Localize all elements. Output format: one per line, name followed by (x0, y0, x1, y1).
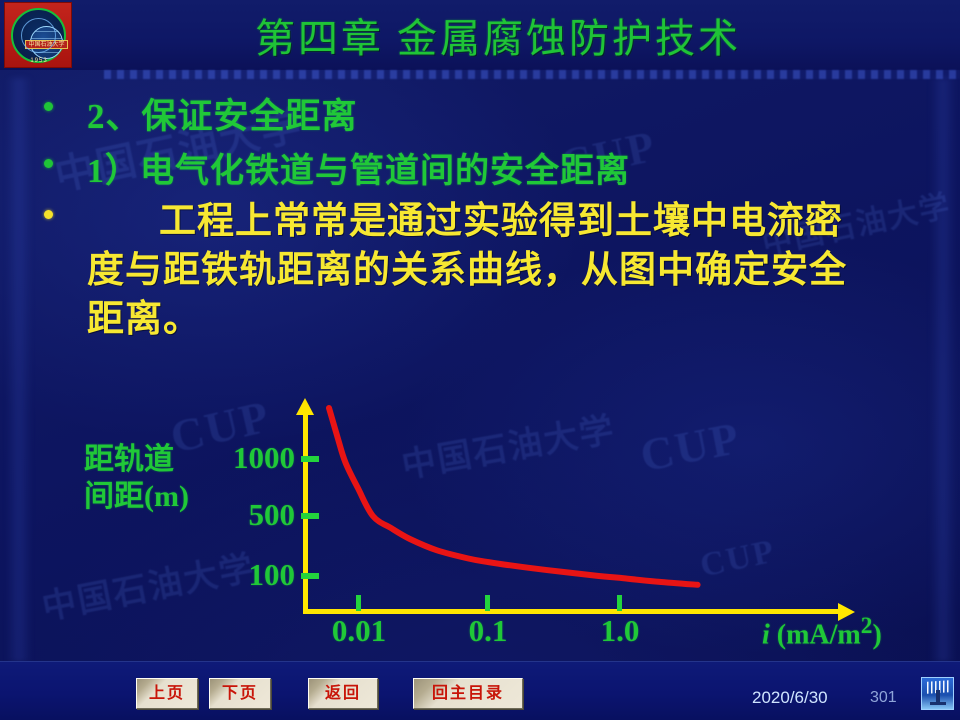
fountain-base (930, 702, 946, 705)
footer-page-number: 301 (870, 689, 897, 707)
prev-page-button[interactable]: 上页 (136, 678, 198, 709)
main-menu-button[interactable]: 回主目录 (413, 678, 523, 709)
presentation-slide: 中国石油大学 CUP 中国石油大学 中国石油大学 CUP CUP CUP 中国石… (0, 0, 960, 720)
curve-plot (0, 0, 960, 720)
footer-date: 2020/6/30 (752, 688, 828, 708)
fountain-icon[interactable] (921, 677, 954, 710)
next-page-button[interactable]: 下页 (209, 678, 271, 709)
back-button[interactable]: 返回 (308, 678, 378, 709)
